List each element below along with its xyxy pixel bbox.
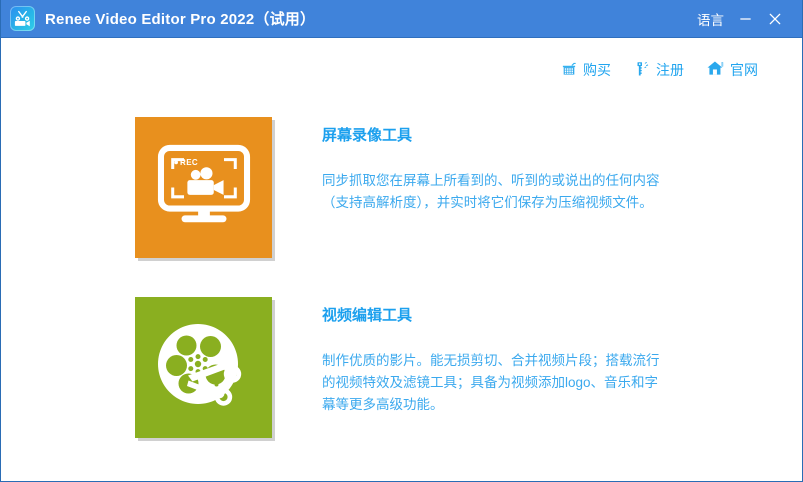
screen-recorder-text: 屏幕录像工具 同步抓取您在屏幕上所看到的、听到的或说出的任何内容 （支持高解析度… — [322, 117, 660, 214]
close-icon — [767, 11, 783, 27]
video-editor-title[interactable]: 视频编辑工具 — [322, 307, 660, 325]
minimize-button[interactable] — [730, 5, 760, 33]
screen-recorder-description: 同步抓取您在屏幕上所看到的、听到的或说出的任何内容 （支持高解析度），并实时将它… — [322, 170, 660, 214]
window-title: Renee Video Editor Pro 2022（试用） — [45, 8, 315, 29]
screen-recorder-title[interactable]: 屏幕录像工具 — [322, 127, 660, 145]
minimize-icon — [738, 11, 753, 26]
buy-link[interactable]: 购买 — [560, 60, 611, 78]
feature-video-editor: 视频编辑工具 制作优质的影片。能无损剪切、合并视频片段；搭载流行 的视频特效及滤… — [135, 297, 660, 438]
monitor-rec-camera-icon: REC — [155, 144, 253, 232]
shopping-cart-icon — [560, 60, 578, 78]
buy-link-label: 购买 — [583, 63, 611, 77]
key-icon — [633, 60, 651, 78]
language-button[interactable]: 语言 — [691, 7, 730, 31]
svg-text:REC: REC — [180, 158, 198, 167]
official-site-link-label: 官网 — [730, 63, 758, 77]
screen-recorder-tile[interactable]: REC — [135, 117, 272, 258]
feature-screen-recorder: REC 屏幕录像工具 同步抓取您在屏幕上所看到的、听到的或说出的任何内容 （支持… — [135, 117, 660, 258]
home-icon — [706, 59, 725, 78]
app-window: Renee Video Editor Pro 2022（试用） 语言 — [0, 0, 803, 482]
video-editor-text: 视频编辑工具 制作优质的影片。能无损剪切、合并视频片段；搭载流行 的视频特效及滤… — [322, 297, 660, 416]
close-button[interactable] — [760, 5, 790, 33]
top-link-bar: 购买 注册 — [560, 59, 758, 78]
film-reel-scissors-icon — [152, 318, 256, 418]
register-link-label: 注册 — [656, 63, 684, 77]
video-editor-description: 制作优质的影片。能无损剪切、合并视频片段；搭载流行 的视频特效及滤镜工具；具备为… — [322, 350, 660, 416]
register-link[interactable]: 注册 — [633, 60, 684, 78]
video-editor-tile[interactable] — [135, 297, 272, 438]
app-icon — [10, 6, 35, 31]
title-bar: Renee Video Editor Pro 2022（试用） 语言 — [1, 0, 802, 38]
official-site-link[interactable]: 官网 — [706, 59, 758, 78]
